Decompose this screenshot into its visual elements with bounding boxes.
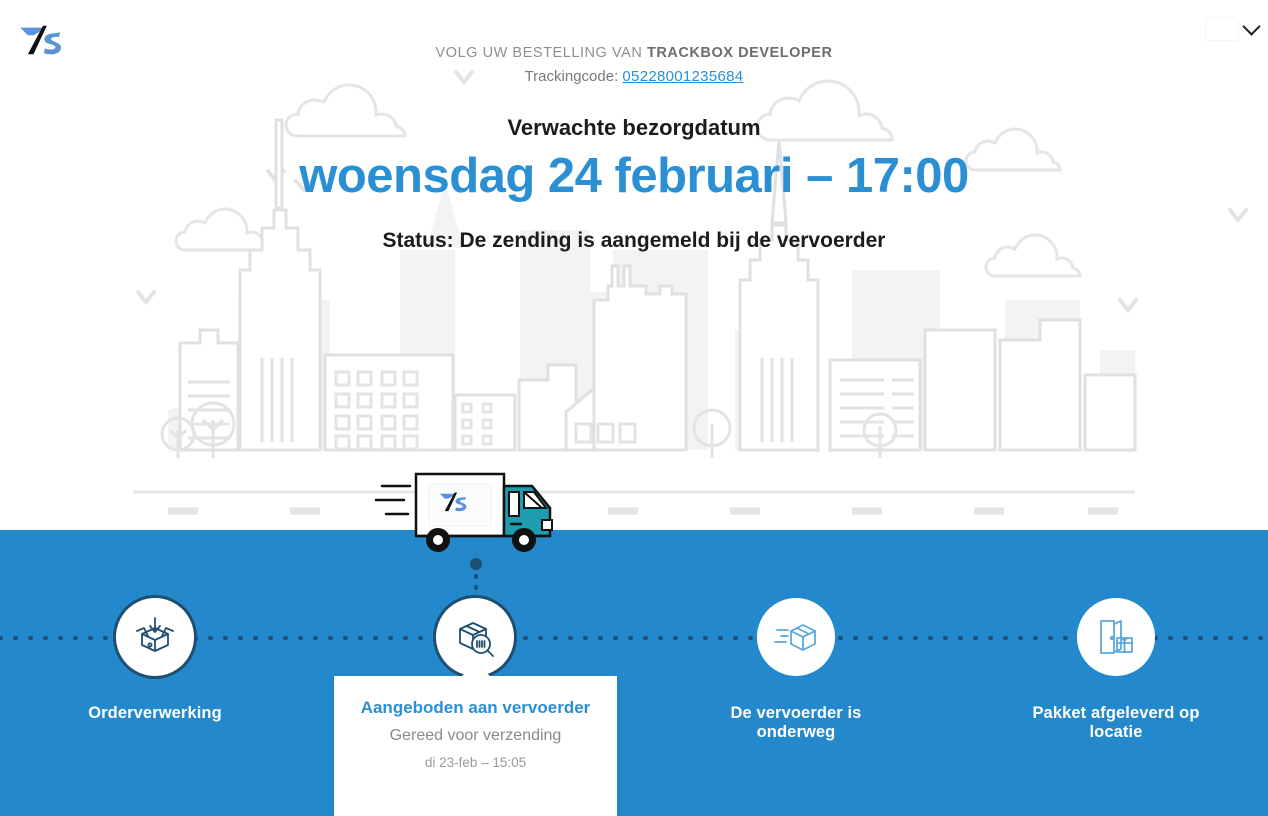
step-label: Pakket afgeleverd op locatie <box>1011 704 1221 743</box>
step-label: De vervoerder is onderweg <box>691 704 901 743</box>
current-step-detail-card: Aangeboden aan vervoerder Gereed voor ve… <box>334 676 617 816</box>
detail-card-datetime: di 23-feb – 15:05 <box>334 755 617 770</box>
step-circle <box>1077 598 1155 676</box>
box-magnifier-barcode-icon <box>453 615 497 659</box>
shipment-status-text: Status: De zending is aangemeld bij de v… <box>0 229 1268 253</box>
tracking-line: Trackingcode: 05228001235684 <box>0 68 1268 85</box>
follow-order-brand: TRACKBOX DEVELOPER <box>647 45 833 61</box>
step-circle <box>116 598 194 676</box>
box-motion-lines-icon <box>774 617 818 657</box>
timeline-step-order-processing[interactable]: Orderverwerking <box>50 598 260 723</box>
follow-order-prefix: VOLG UW BESTELLING VAN <box>436 45 643 61</box>
tracking-code-link[interactable]: 05228001235684 <box>622 68 743 85</box>
timeline-step-carrier-en-route[interactable]: De vervoerder is onderweg <box>691 598 901 743</box>
open-box-arrow-down-icon <box>134 616 176 658</box>
hero-section: VOLG UW BESTELLING VAN TRACKBOX DEVELOPE… <box>0 0 1268 530</box>
door-package-icon <box>1095 616 1137 658</box>
step-label: Orderverwerking <box>50 704 260 723</box>
language-selector[interactable] <box>1206 18 1258 40</box>
follow-order-line: VOLG UW BESTELLING VAN TRACKBOX DEVELOPE… <box>0 45 1268 61</box>
detail-card-title: Aangeboden aan vervoerder <box>334 676 617 718</box>
delivery-truck-illustration <box>374 462 574 557</box>
step-circle <box>757 598 835 676</box>
header-text-block: VOLG UW BESTELLING VAN TRACKBOX DEVELOPE… <box>0 45 1268 85</box>
netherlands-flag-icon <box>1206 18 1238 40</box>
chevron-down-icon[interactable] <box>1242 17 1260 35</box>
expected-delivery-date: woensdag 24 februari – 17:00 <box>0 148 1268 204</box>
detail-card-subtitle: Gereed voor verzending <box>334 727 617 745</box>
timeline-step-delivered[interactable]: Pakket afgeleverd op locatie <box>1011 598 1221 743</box>
tracking-label: Trackingcode: <box>525 68 619 85</box>
tracking-page: VOLG UW BESTELLING VAN TRACKBOX DEVELOPE… <box>0 0 1268 816</box>
card-pointer-arrow <box>461 663 491 677</box>
expected-delivery-label: Verwachte bezorgdatum <box>0 115 1268 141</box>
